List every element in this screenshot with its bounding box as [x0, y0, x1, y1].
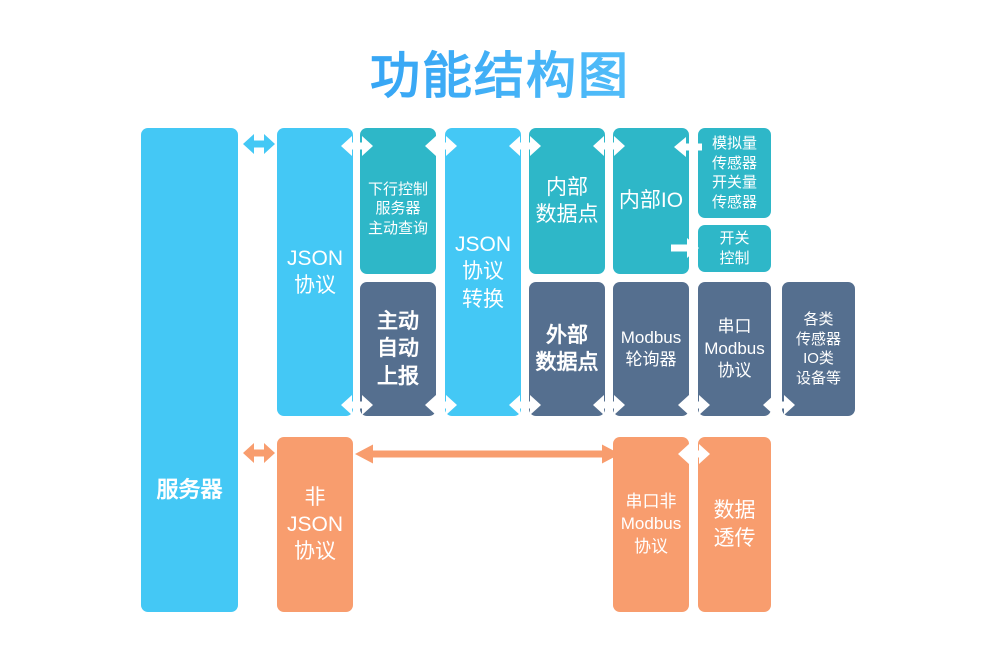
node-json-protocol[interactable]: JSON 协议: [277, 128, 353, 416]
arrow-json-convert-to-external-datapoint: [509, 392, 541, 418]
page-title: 功能结构图: [0, 36, 1000, 108]
node-internal-datapoint-label: 内部 数据点: [529, 174, 605, 229]
arrow-external-datapoint-to-modbus-poller: [593, 392, 625, 418]
arrow-server-to-json-protocol: [243, 131, 275, 157]
node-sensors-label: 模拟量 传感器 开关量 传感器: [698, 134, 771, 212]
node-sensors[interactable]: 模拟量 传感器 开关量 传感器: [698, 128, 771, 218]
node-non-json-protocol-label: 非 JSON 协议: [277, 484, 353, 566]
arrow-auto-report-to-json-convert: [425, 392, 457, 418]
node-serial-modbus-label: 串口 Modbus 协议: [698, 316, 771, 382]
node-json-convert[interactable]: JSON 协议 转换: [445, 128, 521, 416]
arrow-internal-datapoint-to-internal-io: [593, 133, 625, 159]
arrow-serial-modbus-to-devices: [763, 392, 795, 418]
arrow-modbus-poller-to-serial-modbus: [678, 392, 710, 418]
node-downlink-control-label: 下行控制 服务器 主动查询: [360, 180, 436, 239]
diagram-canvas: 功能结构图 服务器 JSON 协议 下行控制 服务器 主动查询 主动 自动 上报…: [0, 0, 1000, 651]
node-serial-non-modbus-label: 串口非 Modbus 协议: [613, 491, 689, 557]
arrow-server-to-non-json: [243, 440, 275, 466]
node-internal-io-label: 内部IO: [613, 187, 689, 214]
arrow-downlink-to-json-convert: [425, 133, 457, 159]
arrow-serial-non-modbus-to-passthrough: [678, 441, 710, 467]
arrow-json-convert-to-internal-datapoint: [509, 133, 541, 159]
node-switch-control-label: 开关 控制: [698, 229, 771, 268]
node-switch-control[interactable]: 开关 控制: [698, 225, 771, 272]
node-data-passthrough-label: 数据 透传: [698, 497, 771, 552]
node-json-convert-label: JSON 协议 转换: [445, 231, 521, 313]
node-field-devices-label: 各类 传感器 IO类 设备等: [782, 310, 855, 388]
node-auto-report-label: 主动 自动 上报: [360, 308, 436, 390]
node-external-datapoint-label: 外部 数据点: [529, 322, 605, 377]
arrow-json-protocol-to-downlink: [341, 133, 373, 159]
node-server[interactable]: 服务器: [141, 128, 238, 612]
node-non-json-protocol[interactable]: 非 JSON 协议: [277, 437, 353, 612]
node-modbus-poller-label: Modbus 轮询器: [613, 327, 689, 371]
arrow-non-json-to-serial-non-modbus: [355, 441, 620, 472]
arrow-auto-report-to-json-protocol: [341, 392, 373, 418]
arrow-internal-io-to-switch-control: [671, 236, 699, 260]
node-server-label: 服务器: [141, 476, 238, 505]
arrow-sensors-to-internal-io: [674, 135, 702, 159]
node-json-protocol-label: JSON 协议: [277, 245, 353, 300]
